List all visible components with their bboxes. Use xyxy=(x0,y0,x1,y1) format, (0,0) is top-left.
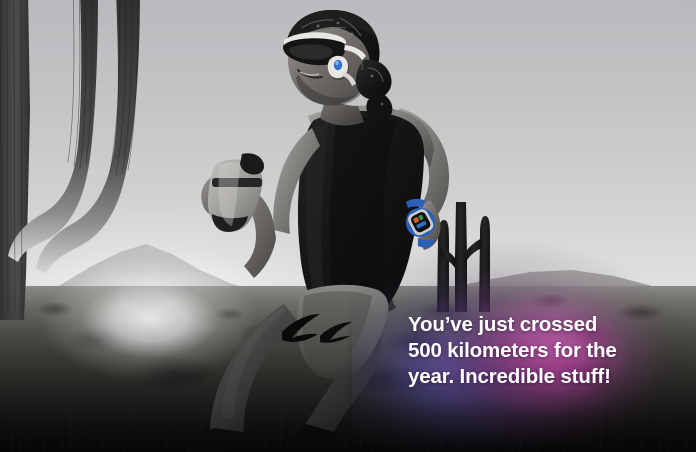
saguaro-cactus-left xyxy=(0,0,170,320)
headline: You’ve just crossed 500 kilometers for t… xyxy=(408,312,676,390)
banner-image: You’ve just crossed 500 kilometers for t… xyxy=(0,0,696,452)
headline-line-2: 500 kilometers for the xyxy=(408,338,676,364)
runner-head xyxy=(283,10,392,125)
headline-line-3: year. Incredible stuff! xyxy=(408,364,676,390)
headline-line-1: You’ve just crossed xyxy=(408,312,676,338)
